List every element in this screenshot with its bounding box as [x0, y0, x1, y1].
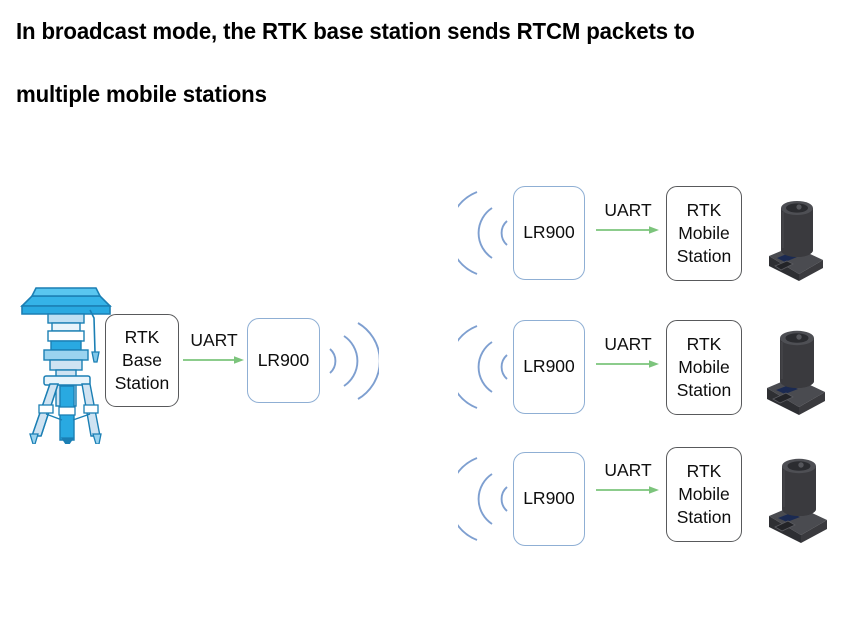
mobile-box-1-line-2: Mobile: [678, 222, 730, 245]
lr900-label-1: LR900: [523, 221, 575, 244]
uart-label-2: UART: [595, 334, 661, 355]
mobile-box-2-line-3: Station: [677, 379, 731, 402]
uart-link-mobile-3: UART: [595, 460, 661, 496]
lr900-box-mobile-2[interactable]: LR900: [513, 320, 585, 414]
mobile-box-2-line-1: RTK: [687, 333, 722, 356]
title-line-1: In broadcast mode, the RTK base station …: [16, 18, 805, 45]
rtk-mobile-station-box-1[interactable]: RTK Mobile Station: [666, 186, 742, 281]
base-box-line-3: Station: [115, 372, 169, 395]
lr900-box-mobile-1[interactable]: LR900: [513, 186, 585, 280]
uart-link-mobile-1: UART: [595, 200, 661, 236]
rtk-mobile-station-device-icon-2: [755, 316, 831, 418]
base-box-line-2: Base: [122, 349, 162, 372]
uart-arrow-2: [595, 358, 661, 370]
mobile-box-3-line-2: Mobile: [678, 483, 730, 506]
rtk-base-station-box[interactable]: RTK Base Station: [105, 314, 179, 407]
uart-label-base: UART: [182, 330, 246, 351]
rtk-mobile-station-device-icon-3: [757, 444, 833, 546]
uart-link-base: UART: [182, 330, 246, 366]
lr900-label-3: LR900: [523, 487, 575, 510]
uart-label-1: UART: [595, 200, 661, 221]
title-line-2: multiple mobile stations: [16, 81, 805, 108]
uart-link-mobile-2: UART: [595, 334, 661, 370]
rtk-base-antenna-tripod-icon: [14, 274, 118, 444]
uart-arrow-3: [595, 484, 661, 496]
radio-waves-receive-icon-3: [458, 452, 510, 546]
mobile-box-1-line-1: RTK: [687, 199, 722, 222]
lr900-base-label: LR900: [258, 349, 310, 372]
uart-label-3: UART: [595, 460, 661, 481]
base-box-line-1: RTK: [125, 326, 160, 349]
uart-arrow-1: [595, 224, 661, 236]
rtk-mobile-station-device-icon-1: [757, 186, 829, 284]
rtk-mobile-station-box-2[interactable]: RTK Mobile Station: [666, 320, 742, 415]
mobile-box-1-line-3: Station: [677, 245, 731, 268]
lr900-box-mobile-3[interactable]: LR900: [513, 452, 585, 546]
mobile-box-3-line-1: RTK: [687, 460, 722, 483]
slide-title: In broadcast mode, the RTK base station …: [16, 8, 851, 108]
radio-waves-receive-icon-1: [458, 186, 510, 280]
radio-waves-receive-icon-2: [458, 320, 510, 414]
radio-waves-transmit-icon: [327, 318, 379, 404]
lr900-label-2: LR900: [523, 355, 575, 378]
uart-arrow-base: [182, 354, 246, 366]
mobile-box-3-line-3: Station: [677, 506, 731, 529]
lr900-box-base[interactable]: LR900: [247, 318, 320, 403]
rtk-mobile-station-box-3[interactable]: RTK Mobile Station: [666, 447, 742, 542]
mobile-box-2-line-2: Mobile: [678, 356, 730, 379]
